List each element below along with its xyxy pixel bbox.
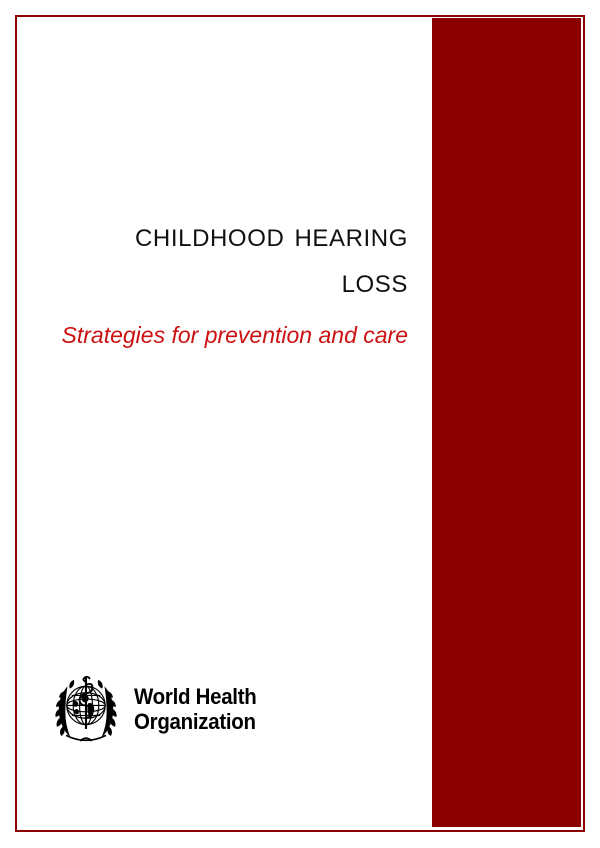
who-logo: World Health Organization bbox=[50, 672, 266, 746]
page-title: Childhood HearingLoss bbox=[40, 212, 408, 304]
page-subtitle: Strategies for prevention and care bbox=[30, 320, 408, 350]
who-wordmark-line-2: Organization bbox=[134, 709, 256, 734]
cover-page: Childhood HearingLoss Strategies for pre… bbox=[0, 0, 600, 848]
page-title-line-1: Childhood Hearing bbox=[135, 216, 408, 254]
title-block: Childhood HearingLoss bbox=[40, 212, 408, 304]
who-wordmark-line-1: World Health bbox=[134, 684, 256, 709]
who-emblem-icon bbox=[50, 672, 122, 746]
decorative-side-band bbox=[432, 18, 581, 827]
who-wordmark: World Health Organization bbox=[134, 684, 256, 734]
page-title-line-2: Loss bbox=[40, 258, 408, 304]
